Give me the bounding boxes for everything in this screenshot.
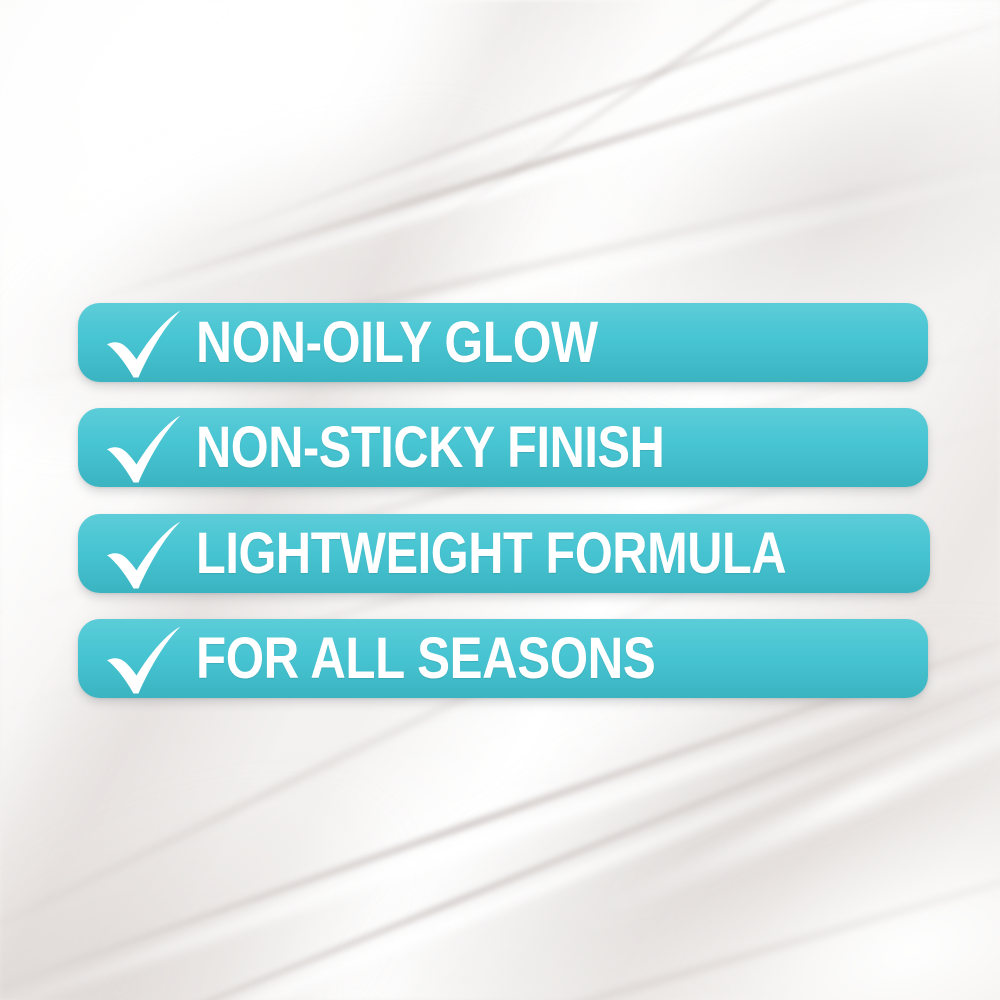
feature-label: NON-OILY GLOW [196, 314, 598, 372]
feature-label: NON-STICKY FINISH [196, 419, 664, 477]
feature-bar-non-sticky-finish[interactable]: NON-STICKY FINISH [78, 408, 928, 487]
check-mark-icon [100, 306, 188, 380]
feature-bar-lightweight-formula[interactable]: LIGHTWEIGHT FORMULA [78, 514, 930, 593]
check-mark-icon [100, 517, 188, 591]
feature-list: NON-OILY GLOW NON-STICKY FINISH LIGHTWEI… [0, 0, 1000, 1000]
feature-bar-non-oily-glow[interactable]: NON-OILY GLOW [78, 303, 928, 382]
check-mark-icon [100, 411, 188, 485]
feature-bar-for-all-seasons[interactable]: FOR ALL SEASONS [78, 619, 928, 698]
feature-label: LIGHTWEIGHT FORMULA [196, 525, 786, 583]
feature-label: FOR ALL SEASONS [196, 630, 655, 688]
product-feature-graphic: NON-OILY GLOW NON-STICKY FINISH LIGHTWEI… [0, 0, 1000, 1000]
check-mark-icon [100, 622, 188, 696]
